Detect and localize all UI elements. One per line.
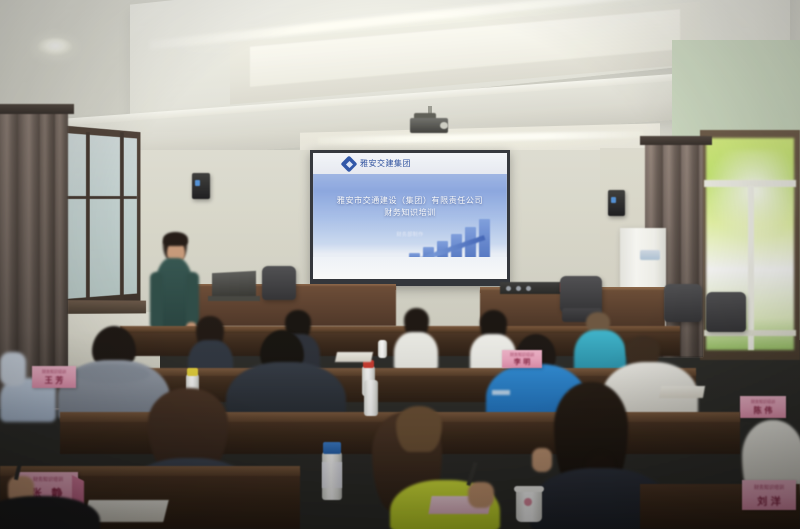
water-bottle (364, 380, 378, 416)
shirt-stripe (492, 390, 510, 395)
office-chair-back (262, 266, 296, 300)
audience-hand (468, 482, 494, 508)
bottle-label (322, 462, 342, 488)
av-knob (516, 286, 521, 291)
placard-name-text: 王 芳 (32, 375, 76, 386)
curtain-rod-left (0, 104, 74, 114)
laptop-screen (212, 271, 256, 299)
handout-paper (335, 352, 373, 362)
office-chair-back (560, 276, 602, 312)
wall-speaker-left (192, 173, 210, 199)
name-placard: 财务知识培训 王 芳 (32, 366, 76, 388)
audience-hair-light (586, 312, 610, 332)
bottle-cap-blue (323, 442, 341, 454)
placard-name-text: 李 明 (502, 357, 542, 367)
downlight-1 (38, 38, 72, 55)
projection-screen: 雅安交建集团 雅安市交通建设（集团）有限责任公司 财务知识培训 财务部制作 (313, 153, 507, 279)
slide-title-line-1: 雅安市交通建设（集团）有限责任公司 (323, 195, 497, 206)
window-mullion-vertical (86, 132, 90, 300)
presenter-hair-top (163, 232, 188, 246)
slide-footer-band (313, 257, 507, 279)
hoodie-hood (74, 364, 150, 384)
av-knob (506, 286, 511, 291)
paper-cup-rim (514, 486, 544, 492)
projector-lens (440, 122, 448, 129)
placard-name-text: 陈 伟 (740, 405, 786, 416)
window-mullion-vertical (120, 132, 124, 300)
audience-hand (532, 448, 552, 472)
office-chair-back (664, 284, 702, 322)
laptop-base (208, 296, 260, 301)
company-logo-text: 雅安交建集团 (360, 159, 418, 169)
speaker-led-left (195, 180, 200, 186)
placard-name-text: 刘 洋 (742, 493, 796, 508)
name-placard: 财务知识培训 刘 洋 (742, 480, 796, 510)
audience-hair (396, 406, 442, 452)
bottle-cap-yellow (187, 368, 198, 376)
presenter-arm-left (150, 272, 163, 330)
right-window-mullion (748, 186, 754, 350)
speaker-led-right (611, 197, 616, 203)
handout-paper (659, 386, 705, 398)
placard-org-text: 财务知识培训 (742, 484, 796, 491)
cabinet-vent-panel (640, 250, 660, 260)
presenter-arm-right (186, 272, 199, 328)
paper-cup-pattern (524, 498, 532, 506)
office-chair-back (706, 292, 746, 332)
av-knob (526, 286, 531, 291)
water-bottle-small (378, 340, 387, 358)
curtain-rod-right (640, 136, 712, 145)
name-placard: 财务知识培训 李 明 (502, 350, 542, 368)
audience-shoulder-lightblue (0, 352, 26, 386)
name-placard: 财务知识培训 陈 伟 (740, 396, 786, 418)
wall-speaker-right (608, 190, 625, 216)
conference-room-photo: 雅安交建集团 雅安市交通建设（集团）有限责任公司 财务知识培训 财务部制作 (0, 0, 800, 529)
slide-title-line-2: 财务知识培训 (323, 207, 497, 218)
audience-body-white-shirt (394, 332, 438, 370)
